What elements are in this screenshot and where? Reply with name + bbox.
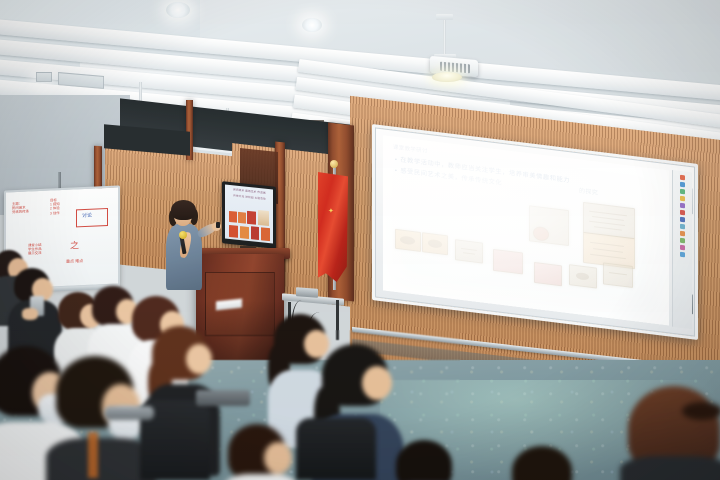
monitor-art-6	[240, 226, 249, 239]
slide-thumb-art-5	[534, 262, 562, 286]
iwb-tool-icon-1[interactable]	[680, 175, 685, 181]
slide-thumb-art-7	[603, 262, 633, 288]
projector-mount-plate	[436, 14, 453, 20]
monitor-screen: 民间美术 剪纸艺术 作品展 传统文化 进校园 主题活动	[225, 184, 273, 243]
iwb-tool-icon-3[interactable]	[680, 189, 685, 195]
monitor-art-8	[261, 227, 270, 241]
iwb-tool-icon-8[interactable]	[680, 224, 685, 230]
whiteboard-scribble: 之	[70, 243, 79, 248]
monitor-art-2	[238, 212, 246, 224]
side-table-leg-right	[336, 300, 339, 340]
equipment-control-box	[296, 287, 318, 298]
slide-thumb-mid	[529, 205, 569, 246]
projector-mount-rod	[443, 18, 446, 56]
iwb-tool-icon-2[interactable]	[680, 182, 685, 188]
slide-thumb-art-2	[422, 232, 448, 255]
iwb-tool-icon-7[interactable]	[680, 217, 685, 223]
iwb-tool-icon-9[interactable]	[680, 231, 685, 237]
projection-screen-surface: 课堂教学研讨 在教学活动中，教师应当关注学生，培养审美情趣和能力 感受民间艺术之…	[383, 135, 669, 325]
iwb-tool-icon-6[interactable]	[680, 210, 685, 216]
chair-tablet-arm	[196, 390, 250, 406]
flag-left-star-emblem: ✦	[328, 208, 335, 215]
slide-annotation: 的探究	[579, 185, 598, 196]
chair-armrest	[104, 406, 154, 420]
chair-back-2	[296, 418, 376, 480]
flag-left-finial	[330, 160, 338, 168]
slide-thumb-art-4	[493, 249, 523, 275]
slide-thumb-art-3	[455, 239, 483, 263]
chair-accent-orange	[88, 432, 98, 478]
whiteboard-note-1: 主题： 民间美术 剪纸的传承	[12, 201, 29, 214]
whiteboard-scribble-2: 重点 难点	[66, 259, 83, 264]
downlight-center-front	[166, 2, 190, 18]
iwb-tool-icon-5[interactable]	[680, 203, 685, 209]
presenter-hair	[171, 200, 196, 220]
projector-lens-glow	[432, 72, 462, 82]
whiteboard-note-4: 讨论	[82, 214, 92, 219]
presenter-clicker[interactable]	[216, 222, 220, 228]
portrait-display-monitor[interactable]: 民间美术 剪纸艺术 作品展 传统文化 进校园 主题活动	[222, 181, 276, 249]
iwb-tool-icon-12[interactable]	[680, 252, 685, 258]
monitor-art-7	[251, 226, 259, 240]
downlight-right-rear	[302, 18, 322, 32]
conference-room-photo: 主题： 民间美术 剪纸的传承 目标 1 感知 2 体验 3 创作 课堂小结 学生…	[0, 0, 720, 480]
iwb-side-toolbar[interactable]	[672, 170, 692, 329]
slide-heading: 课堂教学研讨	[393, 143, 428, 155]
monitor-art-4	[258, 210, 269, 226]
monitor-art-5	[229, 225, 238, 238]
monitor-art-3	[247, 211, 256, 225]
ceiling-vent-left-small	[36, 72, 52, 82]
monitor-art-1	[229, 211, 237, 223]
slide-thumb-art-1	[395, 229, 421, 252]
whiteboard-note-3: 课堂小结 学生作品 展示交流	[28, 243, 42, 256]
microphone-head	[179, 231, 187, 239]
iwb-tool-icon-11[interactable]	[680, 245, 685, 251]
flag-chinese-left	[318, 172, 348, 282]
iwb-tool-icon-4[interactable]	[680, 196, 685, 202]
iwb-tool-icon-10[interactable]	[680, 238, 685, 244]
slide-thumb-art-6	[569, 264, 597, 288]
whiteboard-note-2: 目标 1 感知 2 体验 3 创作	[50, 198, 60, 215]
